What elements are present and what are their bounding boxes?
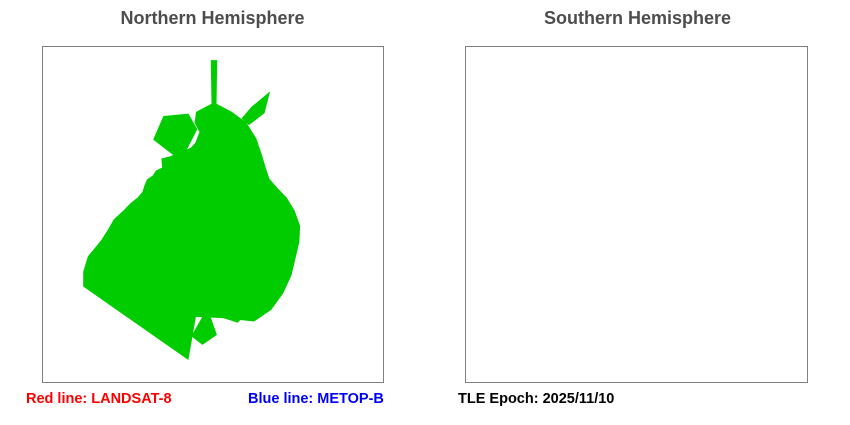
northern-hemisphere-title: Northern Hemisphere [0,8,425,29]
legend-tle-epoch: TLE Epoch: 2025/11/10 [458,391,614,407]
satellite-tracks-page: Northern Hemisphere Southern Hemisphere … [0,0,850,425]
northern-hemisphere-map [43,47,383,382]
legend-red-line: Red line: LANDSAT-8 [26,391,172,407]
southern-hemisphere-title: Southern Hemisphere [425,8,850,29]
legend: Red line: LANDSAT-8 Blue line: METOP-B T… [0,391,850,417]
northern-hemisphere-plot[interactable] [42,46,384,383]
legend-blue-line: Blue line: METOP-B [248,391,384,407]
southern-hemisphere-plot[interactable] [465,46,808,383]
southern-hemisphere-map [466,47,807,382]
panel-southern-hemisphere: Southern Hemisphere [425,0,850,390]
panel-northern-hemisphere: Northern Hemisphere [0,0,425,390]
